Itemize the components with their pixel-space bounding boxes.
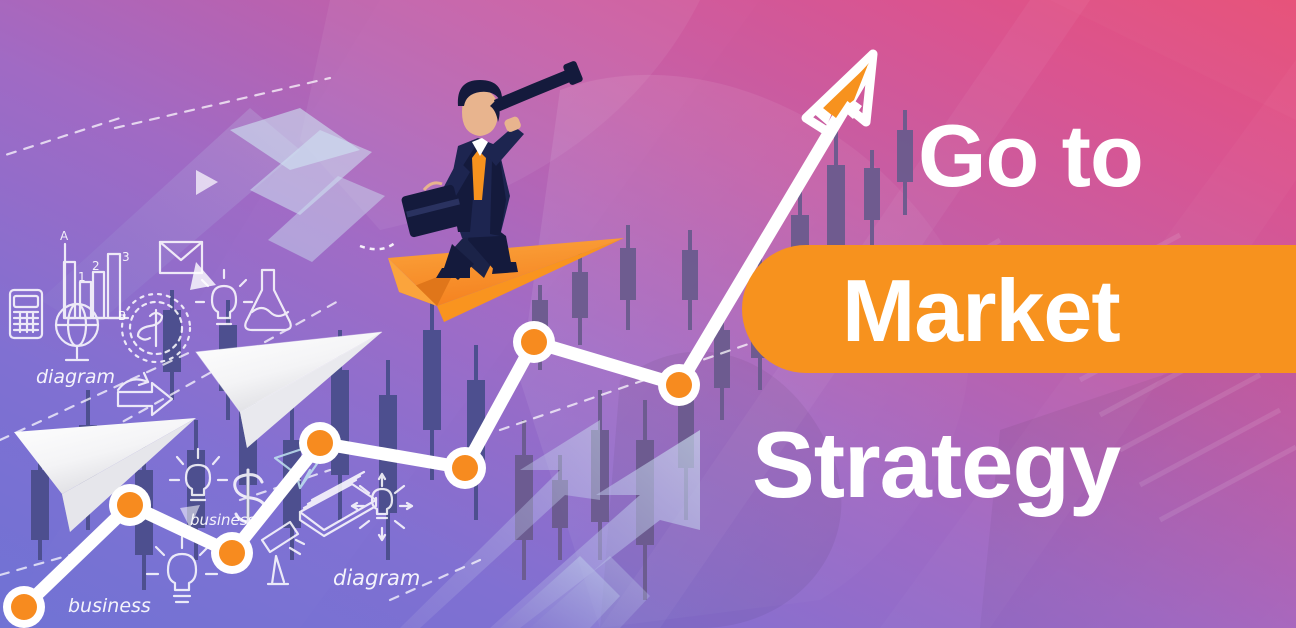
motion-dash — [360, 242, 396, 249]
market-badge: Market — [742, 245, 1296, 373]
briefcase-icon — [401, 183, 464, 238]
headline-line-2: Market — [842, 267, 1120, 355]
headline-line-1: Go to — [918, 112, 1143, 200]
go-to-market-banner: diagram business business diagram A 1 2 … — [0, 0, 1296, 628]
headline-line-3: Strategy — [752, 418, 1120, 512]
telescope-icon — [494, 60, 584, 112]
